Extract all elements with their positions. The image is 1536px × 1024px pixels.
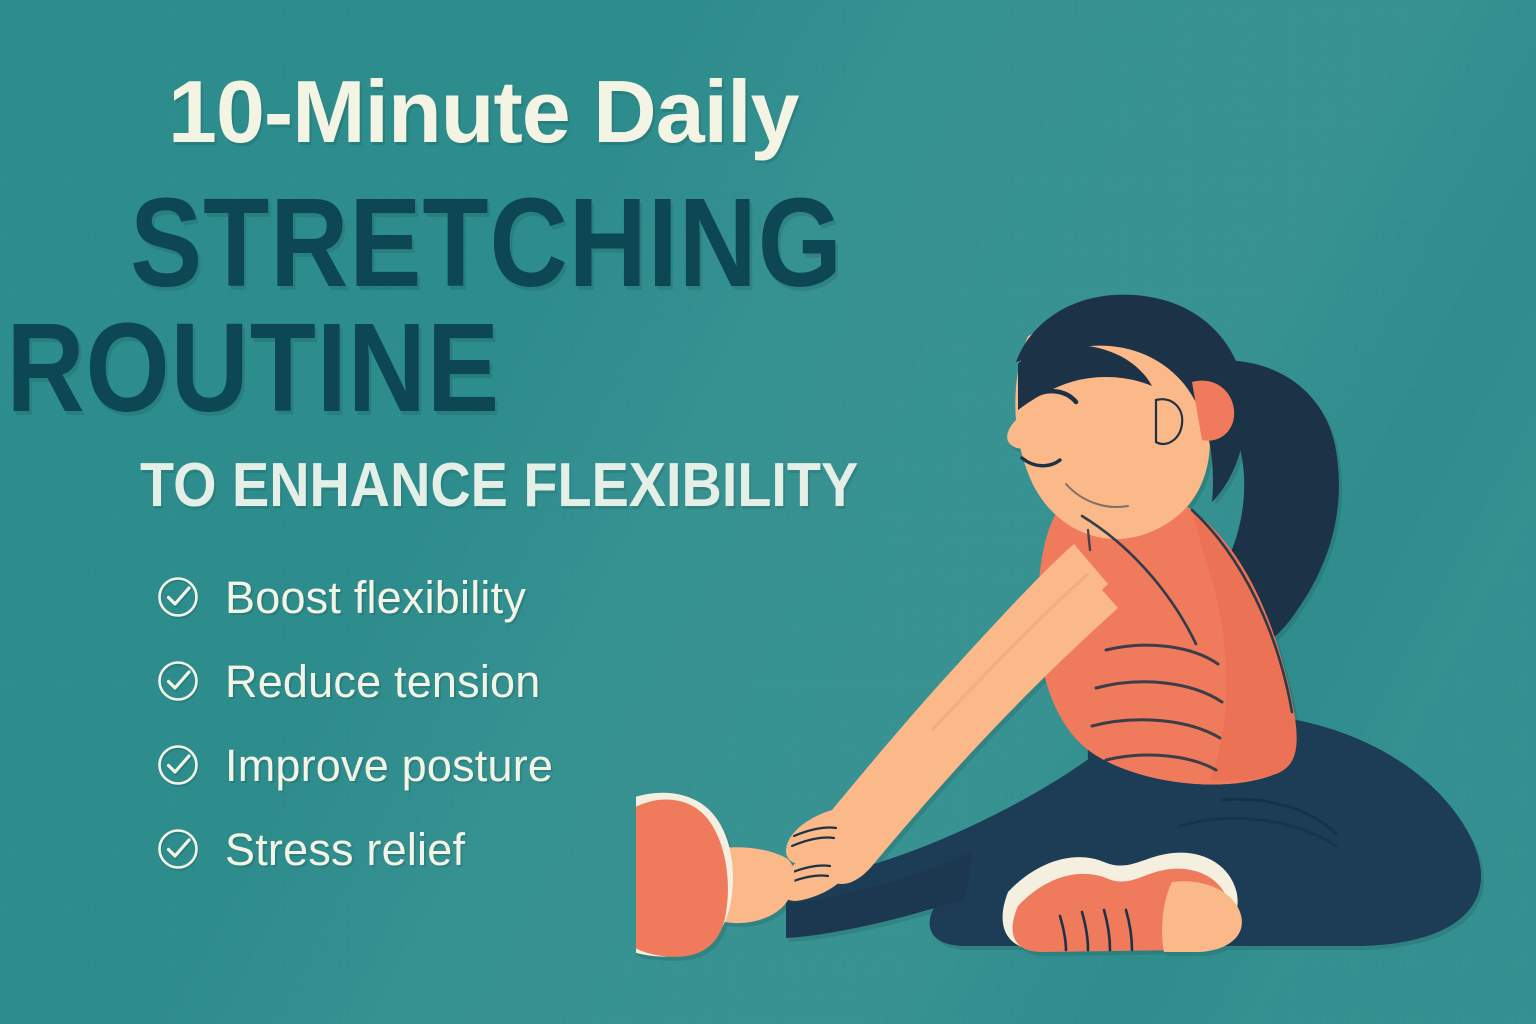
title-line-routine: ROUTINE <box>6 305 500 431</box>
list-item: Boost flexibility <box>155 568 553 626</box>
list-item-label: Boost flexibility <box>225 575 526 620</box>
benefits-list: Boost flexibility Reduce tension Improve… <box>155 568 553 878</box>
eyebrow-heading: 10-Minute Daily <box>168 68 798 156</box>
list-item-label: Reduce tension <box>225 659 541 704</box>
list-item: Reduce tension <box>155 652 553 710</box>
list-item: Stress relief <box>155 820 553 878</box>
title-line-stretching: STRETCHING <box>130 180 843 306</box>
list-item-label: Improve posture <box>225 743 553 788</box>
poster-canvas: 10-Minute Daily STRETCHING ROUTINE TO EN… <box>0 0 1536 1024</box>
text-column: 10-Minute Daily STRETCHING ROUTINE TO EN… <box>0 0 1030 1024</box>
subtitle: TO ENHANCE FLEXIBILITY <box>140 455 858 517</box>
list-item-label: Stress relief <box>225 827 465 872</box>
check-circle-icon <box>155 742 201 788</box>
check-circle-icon <box>155 574 201 620</box>
check-circle-icon <box>155 826 201 872</box>
list-item: Improve posture <box>155 736 553 794</box>
check-circle-icon <box>155 658 201 704</box>
